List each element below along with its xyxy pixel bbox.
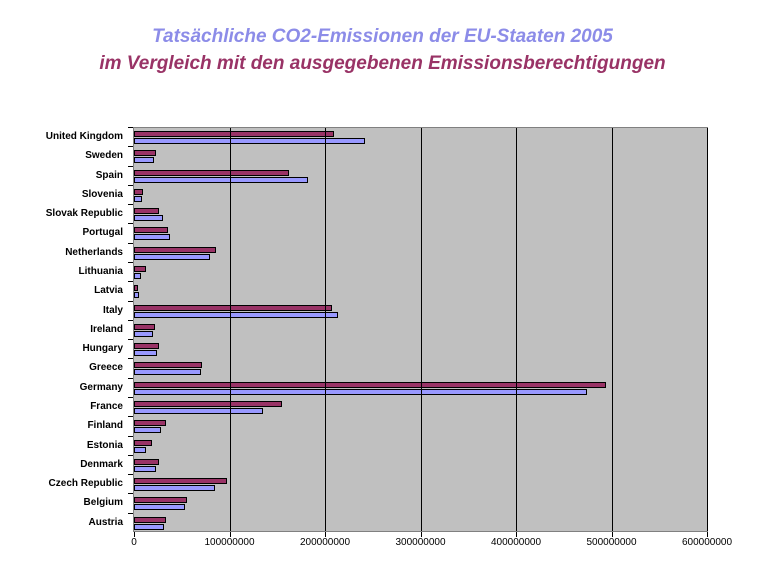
category-label-netherlands: Netherlands bbox=[0, 243, 129, 262]
value-tick bbox=[612, 532, 613, 537]
bar-allowances bbox=[134, 466, 156, 472]
bar-actual-emissions bbox=[134, 517, 166, 523]
bar-actual-emissions bbox=[134, 266, 146, 272]
bar-allowances bbox=[134, 157, 154, 163]
chart-title-line-1: Tatsächliche CO2-Emissionen der EU-Staat… bbox=[0, 24, 765, 50]
bar-allowances bbox=[134, 215, 163, 221]
bar-actual-emissions bbox=[134, 247, 216, 253]
chart-title: Tatsächliche CO2-Emissionen der EU-Staat… bbox=[0, 24, 765, 78]
category-tick bbox=[128, 493, 133, 494]
bar-actual-emissions bbox=[134, 497, 187, 503]
bar-allowances bbox=[134, 254, 210, 260]
bar-actual-emissions bbox=[134, 227, 168, 233]
bar-actual-emissions bbox=[134, 189, 143, 195]
bar-allowances bbox=[134, 408, 263, 414]
category-tick bbox=[128, 358, 133, 359]
gridline bbox=[230, 128, 231, 531]
category-tick bbox=[128, 185, 133, 186]
value-tick-label: 400000000 bbox=[491, 537, 541, 548]
chart-title-line-2: im Vergleich mit den ausgegebenen Emissi… bbox=[0, 50, 765, 78]
category-label-portugal: Portugal bbox=[0, 223, 129, 242]
bar-allowances bbox=[134, 138, 365, 144]
category-tick bbox=[128, 243, 133, 244]
gridline bbox=[325, 128, 326, 531]
category-tick bbox=[128, 378, 133, 379]
category-label-spain: Spain bbox=[0, 166, 129, 185]
category-tick bbox=[128, 127, 133, 128]
bar-allowances bbox=[134, 273, 141, 279]
bar-allowances bbox=[134, 350, 157, 356]
value-tick-label: 300000000 bbox=[395, 537, 445, 548]
bar-actual-emissions bbox=[134, 440, 152, 446]
bar-actual-emissions bbox=[134, 208, 159, 214]
bar-actual-emissions bbox=[134, 131, 334, 137]
category-tick bbox=[128, 166, 133, 167]
category-tick bbox=[128, 436, 133, 437]
category-tick bbox=[128, 320, 133, 321]
bar-allowances bbox=[134, 447, 146, 453]
bar-actual-emissions bbox=[134, 401, 282, 407]
co2-emissions-bar-chart: Tatsächliche CO2-Emissionen der EU-Staat… bbox=[0, 0, 765, 567]
gridline bbox=[421, 128, 422, 531]
category-label-hungary: Hungary bbox=[0, 339, 129, 358]
bar-allowances bbox=[134, 331, 153, 337]
category-label-finland: Finland bbox=[0, 416, 129, 435]
value-tick bbox=[134, 532, 135, 537]
category-tick bbox=[128, 513, 133, 514]
category-label-denmark: Denmark bbox=[0, 455, 129, 474]
category-label-austria: Austria bbox=[0, 513, 129, 532]
value-tick bbox=[325, 532, 326, 537]
category-label-italy: Italy bbox=[0, 301, 129, 320]
gridline bbox=[612, 128, 613, 531]
category-label-belgium: Belgium bbox=[0, 493, 129, 512]
category-tick bbox=[128, 223, 133, 224]
bar-actual-emissions bbox=[134, 362, 202, 368]
category-tick bbox=[128, 397, 133, 398]
bar-actual-emissions bbox=[134, 305, 332, 311]
category-label-sweden: Sweden bbox=[0, 146, 129, 165]
category-label-slovenia: Slovenia bbox=[0, 185, 129, 204]
category-tick bbox=[128, 416, 133, 417]
category-label-greece: Greece bbox=[0, 358, 129, 377]
category-tick bbox=[128, 474, 133, 475]
bar-actual-emissions bbox=[134, 420, 166, 426]
bar-allowances bbox=[134, 389, 587, 395]
category-label-ireland: Ireland bbox=[0, 320, 129, 339]
value-tick bbox=[707, 532, 708, 537]
category-label-estonia: Estonia bbox=[0, 436, 129, 455]
value-axis-labels: 0100000000200000000300000000400000000500… bbox=[0, 537, 765, 557]
bar-actual-emissions bbox=[134, 324, 155, 330]
bar-actual-emissions bbox=[134, 170, 289, 176]
bar-allowances bbox=[134, 524, 164, 530]
bar-allowances bbox=[134, 196, 142, 202]
category-label-czech-republic: Czech Republic bbox=[0, 474, 129, 493]
bar-allowances bbox=[134, 427, 161, 433]
value-tick bbox=[421, 532, 422, 537]
bar-allowances bbox=[134, 234, 170, 240]
value-tick bbox=[516, 532, 517, 537]
value-tick-label: 0 bbox=[131, 537, 137, 548]
bar-allowances bbox=[134, 504, 185, 510]
category-tick bbox=[128, 301, 133, 302]
category-tick bbox=[128, 281, 133, 282]
category-axis-labels: United KingdomSwedenSpainSloveniaSlovak … bbox=[0, 127, 129, 532]
gridline bbox=[516, 128, 517, 531]
value-tick bbox=[230, 532, 231, 537]
value-tick-label: 100000000 bbox=[204, 537, 254, 548]
bar-allowances bbox=[134, 485, 215, 491]
bar-actual-emissions bbox=[134, 478, 227, 484]
bar-allowances bbox=[134, 177, 308, 183]
category-tick bbox=[128, 146, 133, 147]
category-label-latvia: Latvia bbox=[0, 281, 129, 300]
bar-allowances bbox=[134, 369, 201, 375]
bar-allowances bbox=[134, 312, 338, 318]
category-tick bbox=[128, 455, 133, 456]
value-tick-label: 600000000 bbox=[682, 537, 732, 548]
value-tick-label: 500000000 bbox=[586, 537, 636, 548]
category-label-united-kingdom: United Kingdom bbox=[0, 127, 129, 146]
category-label-slovak-republic: Slovak Republic bbox=[0, 204, 129, 223]
bar-actual-emissions bbox=[134, 285, 138, 291]
category-tick bbox=[128, 204, 133, 205]
bar-actual-emissions bbox=[134, 382, 606, 388]
bar-allowances bbox=[134, 292, 139, 298]
category-label-germany: Germany bbox=[0, 378, 129, 397]
plot-area bbox=[133, 127, 708, 532]
category-label-france: France bbox=[0, 397, 129, 416]
bar-actual-emissions bbox=[134, 459, 159, 465]
category-tick bbox=[128, 262, 133, 263]
category-label-lithuania: Lithuania bbox=[0, 262, 129, 281]
bar-actual-emissions bbox=[134, 150, 156, 156]
category-tick bbox=[128, 339, 133, 340]
value-tick-label: 200000000 bbox=[300, 537, 350, 548]
bar-actual-emissions bbox=[134, 343, 159, 349]
gridline bbox=[707, 128, 708, 531]
